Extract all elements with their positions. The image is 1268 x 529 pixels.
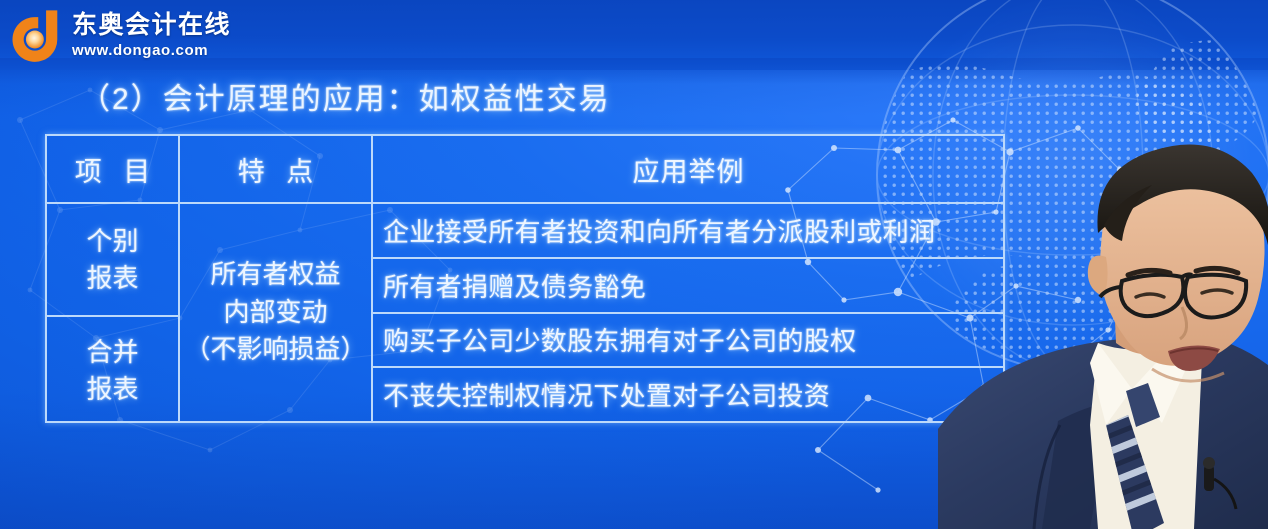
- slide-title: （2）会计原理的应用：如权益性交易: [80, 74, 611, 118]
- cell-line: 内部变动: [223, 294, 327, 332]
- brand-logo[interactable]: 东奥会计在线 www.dongao.com: [8, 6, 234, 64]
- slide-stage: 东奥会计在线 www.dongao.com （2）会计原理的应用：如权益性交易 …: [0, 0, 1268, 529]
- table-cell-feature: 所有者权益 内部变动 （不影响损益）: [180, 204, 371, 421]
- table-header-feature: 特 点: [180, 136, 371, 204]
- cell-line: 报表: [86, 371, 138, 408]
- brand-logo-text: 东奥会计在线 www.dongao.com: [72, 13, 231, 58]
- table-column-feature: 特 点 所有者权益 内部变动 （不影响损益）: [178, 136, 373, 421]
- table-column-examples: 应用举例 企业接受所有者投资和向所有者分派股利或利润 所有者捐赠及债务豁免 购买…: [373, 136, 1003, 421]
- table-cell-example-1: 企业接受所有者投资和向所有者分派股利或利润: [373, 204, 1003, 259]
- table-header-examples: 应用举例: [373, 136, 1003, 204]
- cell-line: 合并: [86, 334, 138, 371]
- table-column-item: 项 目 个别 报表 合并 报表: [47, 136, 178, 421]
- cell-line: （不影响损益）: [184, 331, 366, 369]
- table-header-item: 项 目: [47, 136, 178, 204]
- cell-line: 报表: [86, 260, 138, 297]
- brand-url: www.dongao.com: [72, 43, 231, 58]
- table-cell-example-2: 所有者捐赠及债务豁免: [373, 259, 1003, 314]
- content-table: 项 目 个别 报表 合并 报表 特 点 所有者权益 内部变动 （不影响损益） 应…: [45, 134, 1005, 423]
- cell-line: 所有者权益: [210, 256, 340, 294]
- table-cell-example-3: 购买子公司少数股东拥有对子公司的股权: [373, 314, 1003, 369]
- table-row-individual-statement: 个别 报表: [47, 204, 178, 317]
- cell-line: 个别: [86, 223, 138, 260]
- brand-name: 东奥会计在线: [72, 13, 231, 38]
- table-row-consolidated-statement: 合并 报表: [47, 317, 178, 425]
- dongao-d-logo-icon: [8, 7, 64, 63]
- table-cell-example-4: 不丧失控制权情况下处置对子公司投资: [373, 368, 1003, 421]
